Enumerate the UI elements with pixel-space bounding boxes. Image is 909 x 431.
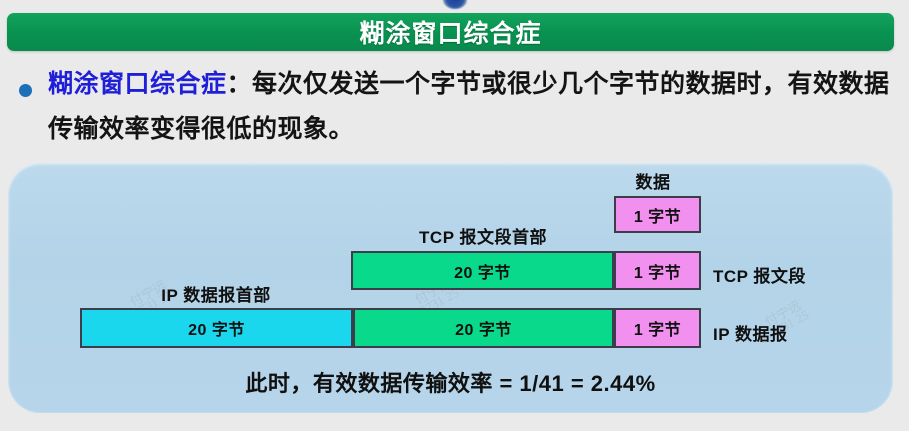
bullet-dot-icon [19,84,32,97]
segment-ip-tcp-header-20bytes: 20 字节 [353,308,614,348]
top-partial-icon [443,0,467,9]
segment-label: 1 字节 [634,316,681,340]
caption-ip-header: IP 数据报首部 [161,281,270,306]
segment-label: 20 字节 [455,316,512,340]
page-title: 糊涂窗口综合症 [359,14,541,50]
segment-label: 20 字节 [188,316,245,340]
row-label-tcp-segment: TCP 报文段 [713,262,806,287]
segment-tcp-header-20bytes: 20 字节 [351,251,614,290]
caption-data: 数据 [636,168,671,193]
diagram-panel: 付宁远 933731 25 付宁远 933731 25 付宁远 933731 2… [8,163,893,413]
segment-data-1byte: 1 字节 [614,196,701,233]
bullet-block: 糊涂窗口综合症：每次仅发送一个字节或很少几个字节的数据时，有效数据传输效率变得很… [14,62,898,152]
efficiency-formula: 此时，有效数据传输效率 = 1/41 = 2.44% [245,366,655,398]
segment-ip-data-1byte: 1 字节 [614,308,701,348]
segment-label: 1 字节 [634,259,681,283]
row-label-ip-datagram: IP 数据报 [713,320,787,345]
segment-ip-header-20bytes: 20 字节 [80,308,353,348]
segment-tcp-data-1byte: 1 字节 [614,251,701,290]
slide-title-banner: 糊涂窗口综合症 [7,13,894,51]
bullet-paragraph: 糊涂窗口综合症：每次仅发送一个字节或很少几个字节的数据时，有效数据传输效率变得很… [48,62,898,152]
caption-tcp-header: TCP 报文段首部 [419,223,547,248]
segment-label: 20 字节 [454,259,511,283]
segment-label: 1 字节 [634,203,681,227]
bullet-keyword: 糊涂窗口综合症 [48,70,227,98]
